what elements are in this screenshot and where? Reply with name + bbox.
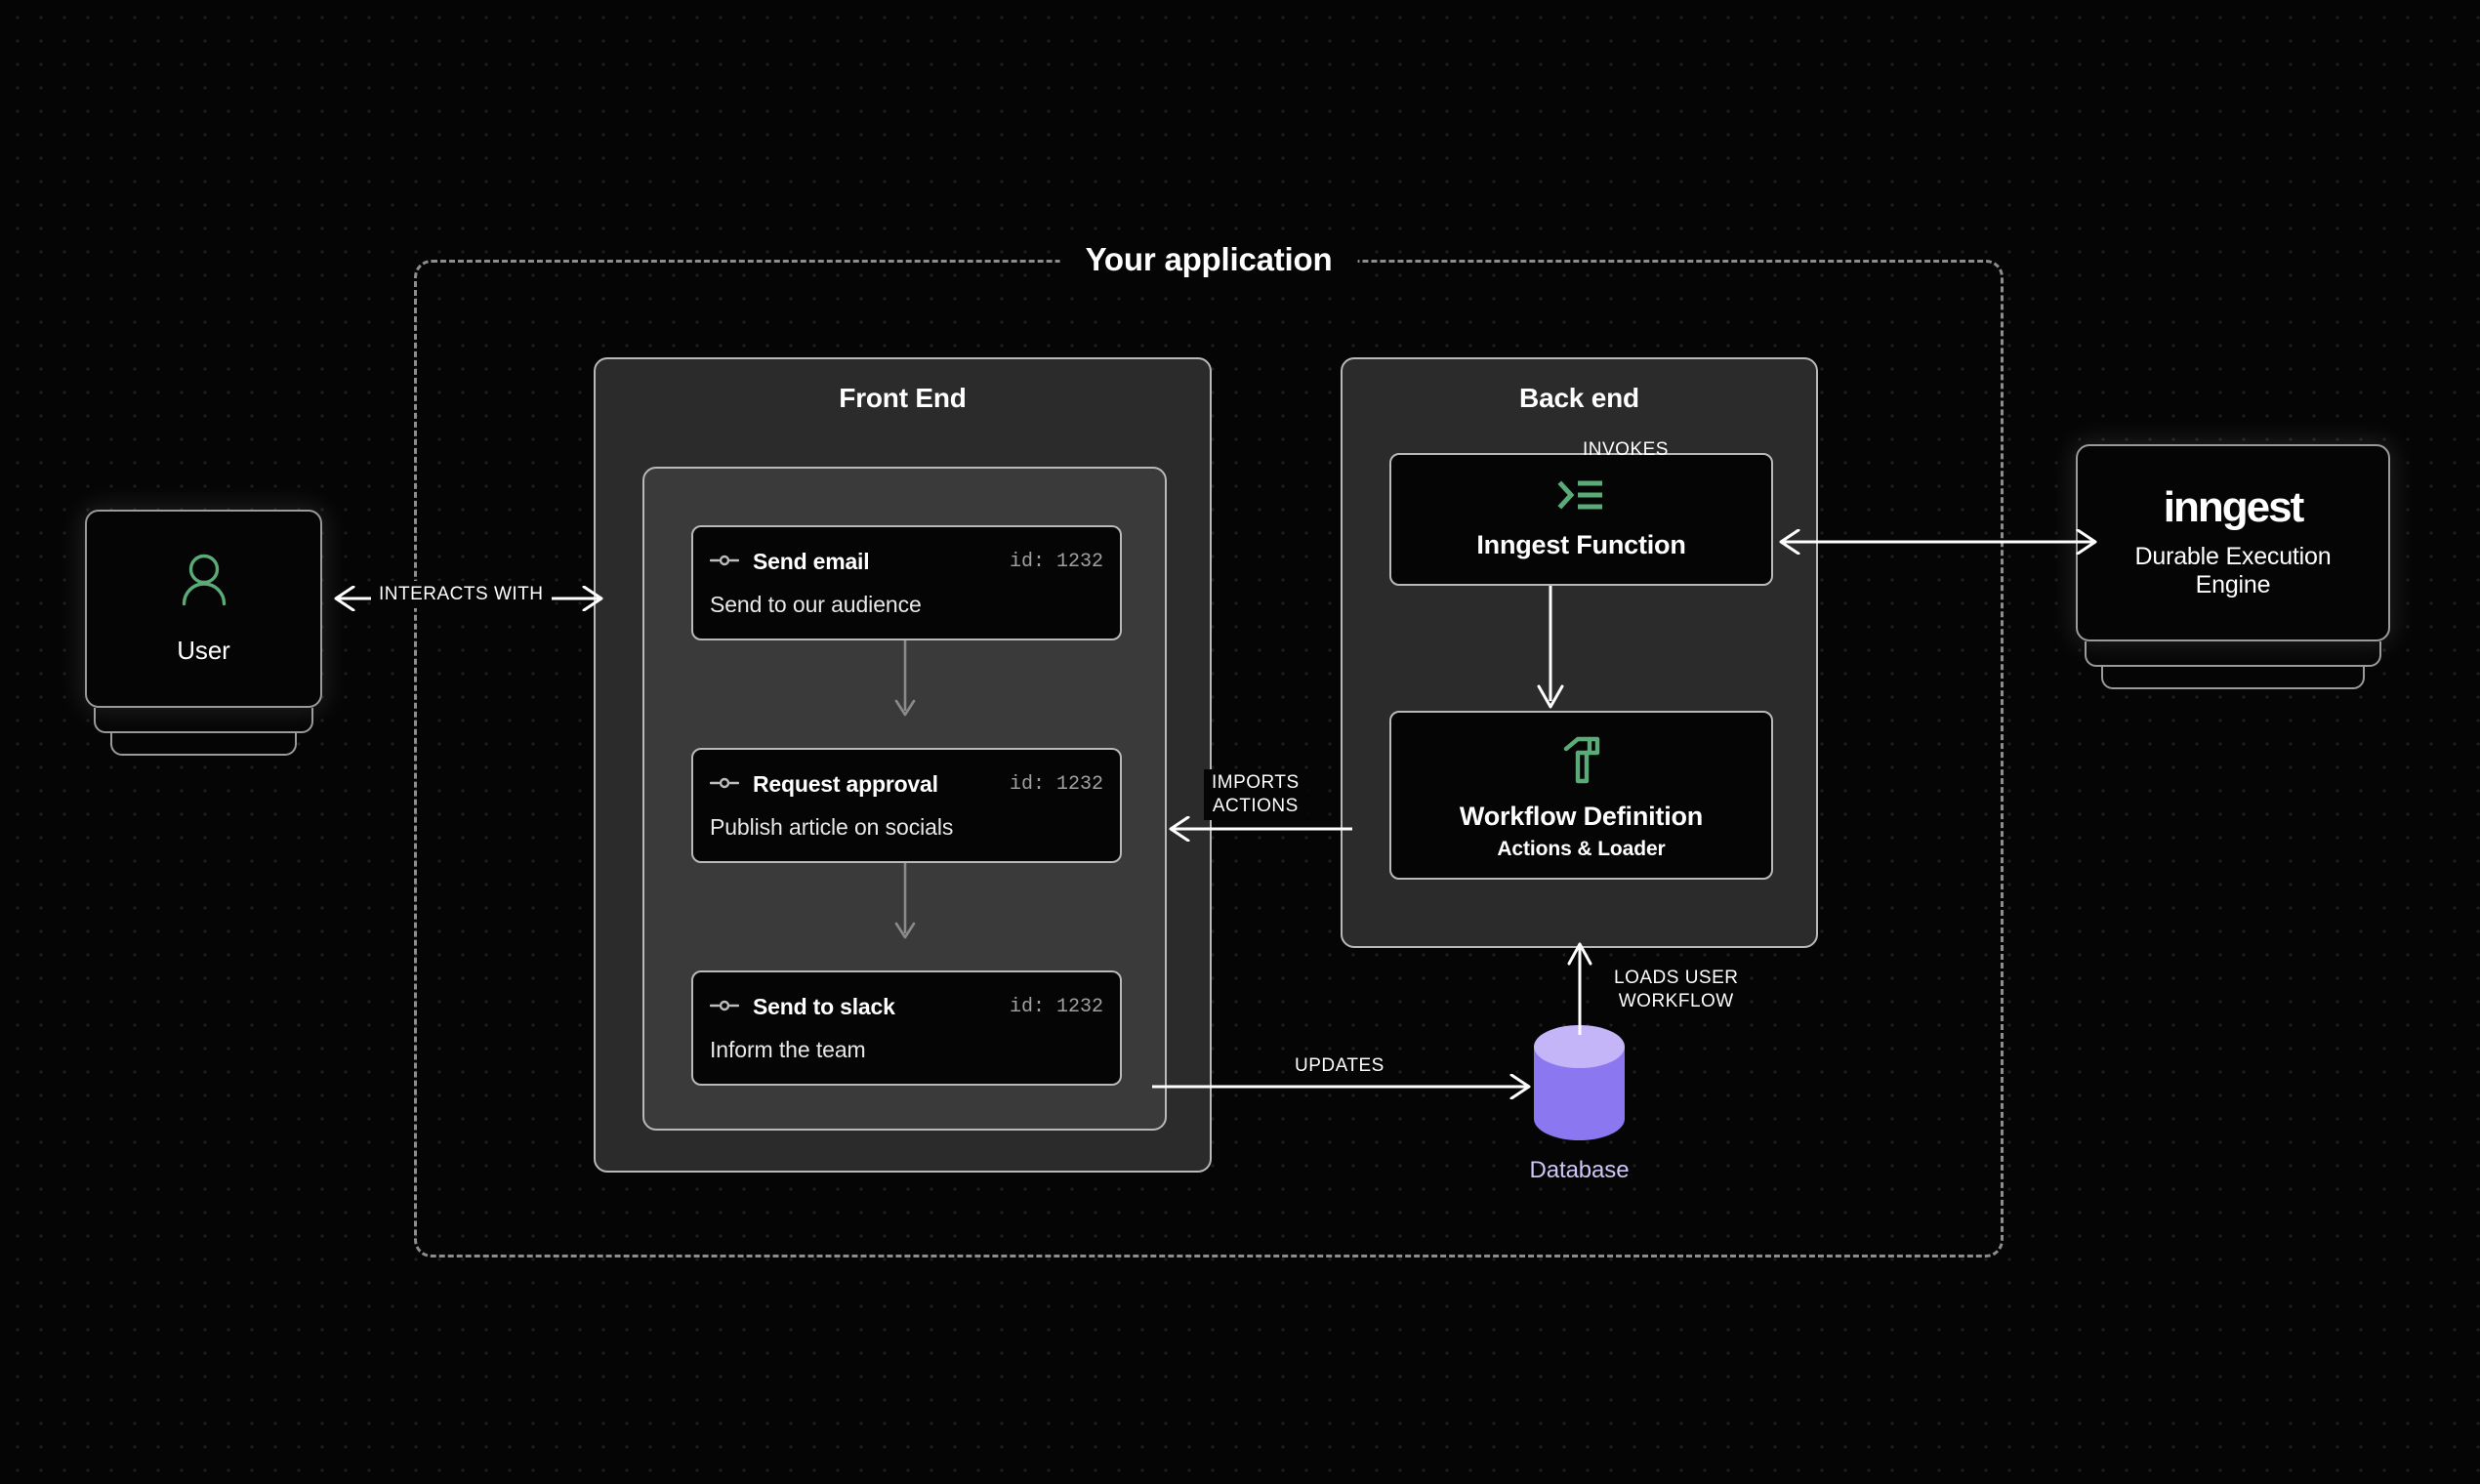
step-node-icon [710, 776, 739, 794]
diagram-canvas: Your application User Front End [0, 0, 2480, 1484]
workflow-step-card[interactable]: Send to slack id: 1232 Inform the team [691, 970, 1122, 1086]
database-node[interactable]: Database [1528, 1023, 1631, 1184]
invokes-label: INVOKES [1583, 439, 1669, 461]
workflow-step-description: Send to our audience [710, 592, 1103, 618]
imports-actions-arrow [1167, 816, 1352, 842]
inngest-subtitle-line1: Durable Execution [2135, 543, 2332, 572]
step-connector-arrow [891, 863, 919, 945]
workflow-step-title: Request approval [753, 771, 938, 798]
workflow-step-header: Request approval id: 1232 [710, 771, 1103, 798]
loads-user-workflow-arrow [1567, 942, 1592, 1035]
loads-user-workflow-line1: LOADS USER [1614, 967, 1738, 990]
workflow-step-title: Send to slack [753, 994, 895, 1020]
backend-inngest-arrow [1777, 529, 2099, 555]
inngest-subtitle: Durable Execution Engine [2135, 543, 2332, 600]
your-application-title: Your application [1060, 241, 1358, 278]
inngest-card-stack-mid [2085, 641, 2381, 667]
terminal-prompt-icon [1391, 476, 1771, 518]
user-label: User [177, 636, 230, 666]
front-end-panel: Front End Send email id: 1232 Send to ou [594, 357, 1212, 1173]
workflow-definition-title: Workflow Definition [1391, 802, 1771, 832]
imports-actions-line1: IMPORTS [1212, 771, 1300, 795]
inngest-function-title: Inngest Function [1391, 530, 1771, 560]
inngest-card-face: inngest Durable Execution Engine [2076, 444, 2390, 641]
workflow-step-header: Send email id: 1232 [710, 549, 1103, 575]
workflow-step-id: id: 1232 [1010, 773, 1103, 796]
interacts-with-label: INTERACTS WITH [371, 581, 552, 608]
workflow-definition-node[interactable]: Workflow Definition Actions & Loader [1389, 711, 1773, 880]
inngest-card-stack-back [2101, 664, 2365, 689]
invokes-arrow [1534, 586, 1567, 711]
workflow-step-title: Send email [753, 549, 869, 575]
imports-actions-label: IMPORTS ACTIONS [1204, 769, 1307, 820]
loads-user-workflow-label: LOADS USER WORKFLOW [1606, 965, 1746, 1015]
workflow-editor-shell: Send email id: 1232 Send to our audience [642, 467, 1167, 1131]
workflow-step-card[interactable]: Send email id: 1232 Send to our audience [691, 525, 1122, 640]
imports-actions-line2: ACTIONS [1212, 795, 1300, 818]
updates-label: UPDATES [1287, 1052, 1392, 1080]
workflow-step-header: Send to slack id: 1232 [710, 994, 1103, 1020]
inngest-subtitle-line2: Engine [2135, 571, 2332, 600]
workflow-step-description: Publish article on socials [710, 814, 1103, 841]
step-node-icon [710, 999, 739, 1016]
inngest-function-node[interactable]: Inngest Function [1389, 453, 1773, 586]
user-node[interactable]: User [85, 510, 322, 708]
step-node-icon [710, 554, 739, 571]
hammer-icon [1391, 734, 1771, 790]
workflow-step-id: id: 1232 [1010, 551, 1103, 573]
back-end-title: Back end [1343, 383, 1816, 414]
workflow-step-description: Inform the team [710, 1037, 1103, 1063]
user-card-stack-mid [94, 708, 313, 733]
user-icon [178, 553, 230, 614]
front-end-title: Front End [596, 383, 1210, 414]
user-card-face: User [85, 510, 322, 708]
back-end-panel: Back end Inngest Function INVOKES [1341, 357, 1818, 948]
loads-user-workflow-line2: WORKFLOW [1614, 990, 1738, 1013]
workflow-step-card[interactable]: Request approval id: 1232 Publish articl… [691, 748, 1122, 863]
workflow-definition-subtitle: Actions & Loader [1391, 838, 1771, 861]
inngest-engine-node[interactable]: inngest Durable Execution Engine [2076, 444, 2390, 641]
step-connector-arrow [891, 640, 919, 722]
database-label: Database [1528, 1157, 1631, 1184]
inngest-wordmark: inngest [2164, 486, 2302, 529]
user-card-stack-back [110, 730, 297, 756]
workflow-step-id: id: 1232 [1010, 996, 1103, 1018]
database-cylinder-icon [1528, 1130, 1631, 1146]
